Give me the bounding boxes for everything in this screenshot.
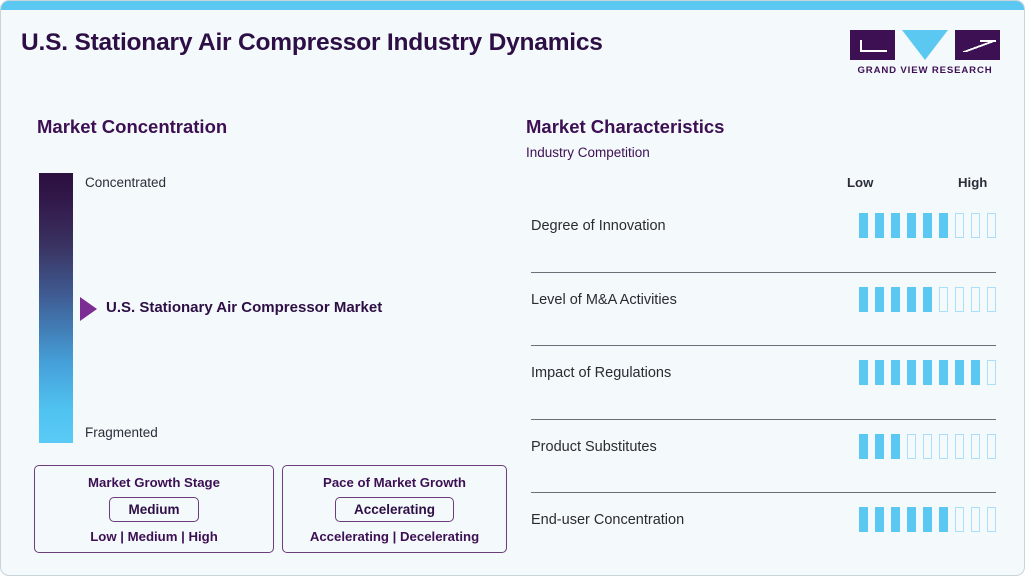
concentration-bottom-label: Fragmented <box>85 425 158 440</box>
page-title: U.S. Stationary Air Compressor Industry … <box>21 29 603 57</box>
characteristics-list: Degree of InnovationLevel of M&A Activit… <box>531 199 996 566</box>
rating-segment-empty <box>939 287 948 312</box>
market-characteristics-subtitle: Industry Competition <box>526 145 650 160</box>
logo-wordmark: GRAND VIEW RESEARCH <box>850 65 1000 76</box>
rating-segment-filled <box>939 507 948 532</box>
rating-segment-empty <box>987 287 996 312</box>
rating-segment-empty <box>971 287 980 312</box>
rating-segment-empty <box>923 434 932 459</box>
market-position-arrow-icon <box>80 297 97 321</box>
characteristic-row: Degree of Innovation <box>531 199 996 273</box>
rating-segment-filled <box>859 213 868 238</box>
rating-segment-empty <box>955 287 964 312</box>
pace-of-market-growth-scale: Accelerating | Decelerating <box>283 529 506 544</box>
rating-segment-empty <box>987 507 996 532</box>
rating-segment-filled <box>907 213 916 238</box>
concentration-top-label: Concentrated <box>85 175 166 190</box>
characteristic-row: End-user Concentration <box>531 493 996 566</box>
rating-segment-filled <box>891 287 900 312</box>
characteristic-rating-bars <box>859 360 996 385</box>
pace-of-market-growth-value: Accelerating <box>335 497 454 522</box>
rating-segment-filled <box>971 360 980 385</box>
rating-segment-empty <box>955 507 964 532</box>
rating-segment-empty <box>987 434 996 459</box>
characteristic-label: Level of M&A Activities <box>531 292 677 308</box>
logo-g-mark-icon <box>850 30 895 60</box>
logo-marks <box>850 30 1000 60</box>
logo-v-triangle-icon <box>902 30 948 60</box>
rating-segment-filled <box>891 360 900 385</box>
rating-segment-filled <box>875 507 884 532</box>
rating-segment-filled <box>875 213 884 238</box>
characteristic-label: Impact of Regulations <box>531 365 671 381</box>
characteristic-rating-bars <box>859 213 996 238</box>
characteristic-row: Level of M&A Activities <box>531 273 996 347</box>
rating-segment-empty <box>971 213 980 238</box>
rating-segment-empty <box>971 507 980 532</box>
scale-low-label: Low <box>847 175 873 190</box>
rating-segment-filled <box>907 287 916 312</box>
rating-segment-filled <box>891 213 900 238</box>
rating-segment-filled <box>907 507 916 532</box>
rating-segment-filled <box>955 360 964 385</box>
market-growth-stage-scale: Low | Medium | High <box>35 529 273 544</box>
characteristic-rating-bars <box>859 507 996 532</box>
market-characteristics-title: Market Characteristics <box>526 116 724 138</box>
infographic-canvas: U.S. Stationary Air Compressor Industry … <box>0 0 1025 576</box>
header: U.S. Stationary Air Compressor Industry … <box>1 10 1024 87</box>
rating-segment-filled <box>859 360 868 385</box>
pace-of-market-growth-title: Pace of Market Growth <box>283 475 506 490</box>
rating-segment-filled <box>875 360 884 385</box>
rating-segment-filled <box>923 507 932 532</box>
rating-segment-filled <box>923 287 932 312</box>
market-growth-stage-card: Market Growth Stage Medium Low | Medium … <box>34 465 274 553</box>
market-concentration-title: Market Concentration <box>37 116 227 138</box>
rating-segment-filled <box>923 213 932 238</box>
top-accent-bar <box>1 1 1024 10</box>
grand-view-research-logo: GRAND VIEW RESEARCH <box>850 30 1000 76</box>
market-growth-stage-title: Market Growth Stage <box>35 475 273 490</box>
rating-segment-empty <box>955 213 964 238</box>
characteristic-row: Impact of Regulations <box>531 346 996 420</box>
market-position-label: U.S. Stationary Air Compressor Market <box>106 299 382 316</box>
concentration-gradient-bar <box>39 173 73 443</box>
pace-of-market-growth-card: Pace of Market Growth Accelerating Accel… <box>282 465 507 553</box>
market-growth-stage-value: Medium <box>109 497 198 522</box>
characteristic-row: Product Substitutes <box>531 420 996 494</box>
rating-segment-filled <box>891 507 900 532</box>
rating-segment-empty <box>907 434 916 459</box>
scale-high-label: High <box>958 175 987 190</box>
rating-segment-filled <box>859 287 868 312</box>
rating-segment-filled <box>939 213 948 238</box>
rating-segment-empty <box>971 434 980 459</box>
logo-r-mark-icon <box>955 30 1000 60</box>
characteristic-rating-bars <box>859 287 996 312</box>
characteristic-label: End-user Concentration <box>531 512 684 528</box>
characteristic-label: Product Substitutes <box>531 439 657 455</box>
rating-segment-filled <box>859 434 868 459</box>
rating-segment-empty <box>987 360 996 385</box>
rating-segment-empty <box>987 213 996 238</box>
rating-segment-filled <box>923 360 932 385</box>
rating-segment-filled <box>891 434 900 459</box>
rating-segment-filled <box>907 360 916 385</box>
rating-segment-filled <box>859 507 868 532</box>
characteristic-label: Degree of Innovation <box>531 218 666 234</box>
rating-segment-filled <box>875 287 884 312</box>
rating-segment-empty <box>939 434 948 459</box>
rating-segment-filled <box>939 360 948 385</box>
characteristic-rating-bars <box>859 434 996 459</box>
rating-segment-empty <box>955 434 964 459</box>
rating-segment-filled <box>875 434 884 459</box>
